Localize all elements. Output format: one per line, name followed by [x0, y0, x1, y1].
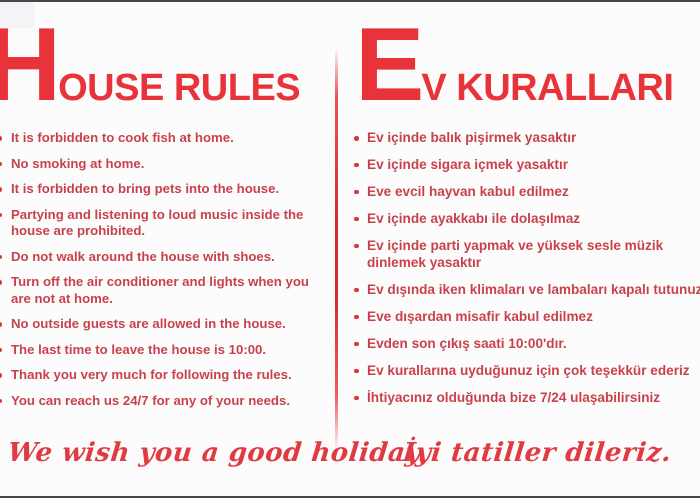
bullet-icon [354, 369, 359, 374]
list-item: Ev içinde parti yapmak ve yüksek sesle m… [353, 238, 700, 272]
english-heading: HOUSE RULES [0, 18, 300, 114]
bullet-icon [0, 348, 2, 353]
turkish-closing-message: İyi tatiller dileriz. [401, 438, 673, 468]
list-item: Ev kurallarına uyduğunuz için çok teşekk… [353, 363, 700, 380]
turkish-column: EV KURALLARI Ev içinde balık pişirmek ya… [345, 0, 700, 500]
english-rules-list: It is forbidden to cook fish at home. No… [0, 130, 329, 418]
bullet-icon [354, 342, 359, 347]
english-column: HOUSE RULES It is forbidden to cook fish… [0, 0, 335, 500]
house-rules-poster: HOUSE RULES It is forbidden to cook fish… [0, 0, 700, 500]
list-item: Do not walk around the house with shoes. [0, 249, 329, 266]
list-item: Evden son çıkış saati 10:00'dır. [353, 336, 700, 353]
rule-text: Thank you very much for following the ru… [11, 367, 292, 382]
list-item: Partying and listening to loud music ins… [0, 207, 329, 240]
list-item: Ev içinde ayakkabı ile dolaşılmaz [353, 211, 700, 228]
turkish-rules-list: Ev içinde balık pişirmek yasaktır Ev içi… [353, 130, 700, 417]
english-heading-dropcap: H [0, 7, 58, 123]
bullet-icon [0, 322, 2, 327]
bottom-edge-rule [0, 496, 700, 498]
bullet-icon [354, 288, 359, 293]
list-item: The last time to leave the house is 10:0… [0, 342, 329, 359]
bullet-icon [354, 163, 359, 168]
column-divider [335, 48, 338, 452]
rule-text: Ev içinde parti yapmak ve yüksek sesle m… [367, 238, 663, 270]
rule-text: It is forbidden to cook fish at home. [11, 130, 234, 145]
list-item: No outside guests are allowed in the hou… [0, 316, 329, 333]
rule-text: Turn off the air conditioner and lights … [11, 274, 309, 306]
list-item: Turn off the air conditioner and lights … [0, 274, 329, 307]
bullet-icon [354, 315, 359, 320]
list-item: It is forbidden to bring pets into the h… [0, 181, 329, 198]
bullet-icon [0, 213, 2, 218]
bullet-icon [354, 217, 359, 222]
rule-text: İhtiyacınız olduğunda bize 7/24 ulaşabil… [367, 390, 660, 405]
turkish-heading-rest: V KURALLARI [421, 67, 673, 109]
list-item: Ev dışında iken klimaları ve lambaları k… [353, 282, 700, 299]
bullet-icon [0, 136, 2, 141]
rule-text: Ev içinde balık pişirmek yasaktır [367, 130, 576, 145]
list-item: Eve dışardan misafir kabul edilmez [353, 309, 700, 326]
list-item: You can reach us 24/7 for any of your ne… [0, 393, 329, 410]
list-item: Eve evcil hayvan kabul edilmez [353, 184, 700, 201]
bullet-icon [354, 136, 359, 141]
bullet-icon [0, 373, 2, 378]
rule-text: Ev dışında iken klimaları ve lambaları k… [367, 282, 700, 297]
turkish-heading-dropcap: E [355, 7, 421, 123]
rule-text: Eve dışardan misafir kabul edilmez [367, 309, 593, 324]
list-item: It is forbidden to cook fish at home. [0, 130, 329, 147]
rule-text: Eve evcil hayvan kabul edilmez [367, 184, 569, 199]
rule-text: Do not walk around the house with shoes. [11, 249, 275, 264]
bullet-icon [354, 190, 359, 195]
rule-text: You can reach us 24/7 for any of your ne… [11, 393, 290, 408]
bullet-icon [0, 399, 2, 404]
list-item: Ev içinde balık pişirmek yasaktır [353, 130, 700, 147]
list-item: Thank you very much for following the ru… [0, 367, 329, 384]
rule-text: It is forbidden to bring pets into the h… [11, 181, 279, 196]
rule-text: Ev kurallarına uyduğunuz için çok teşekk… [367, 363, 690, 378]
rule-text: No outside guests are allowed in the hou… [11, 316, 286, 331]
list-item: Ev içinde sigara içmek yasaktır [353, 157, 700, 174]
rule-text: Ev içinde ayakkabı ile dolaşılmaz [367, 211, 580, 226]
bullet-icon [0, 280, 2, 285]
bullet-icon [0, 162, 2, 167]
rule-text: Evden son çıkış saati 10:00'dır. [367, 336, 567, 351]
list-item: No smoking at home. [0, 156, 329, 173]
english-heading-rest: OUSE RULES [58, 67, 300, 109]
bullet-icon [0, 187, 2, 192]
rule-text: Ev içinde sigara içmek yasaktır [367, 157, 568, 172]
rule-text: The last time to leave the house is 10:0… [11, 342, 266, 357]
bullet-icon [354, 244, 359, 249]
turkish-heading: EV KURALLARI [355, 18, 673, 114]
bullet-icon [354, 396, 359, 401]
rule-text: Partying and listening to loud music ins… [11, 207, 303, 239]
rule-text: No smoking at home. [11, 156, 144, 171]
bullet-icon [0, 255, 2, 260]
list-item: İhtiyacınız olduğunda bize 7/24 ulaşabil… [353, 390, 700, 407]
